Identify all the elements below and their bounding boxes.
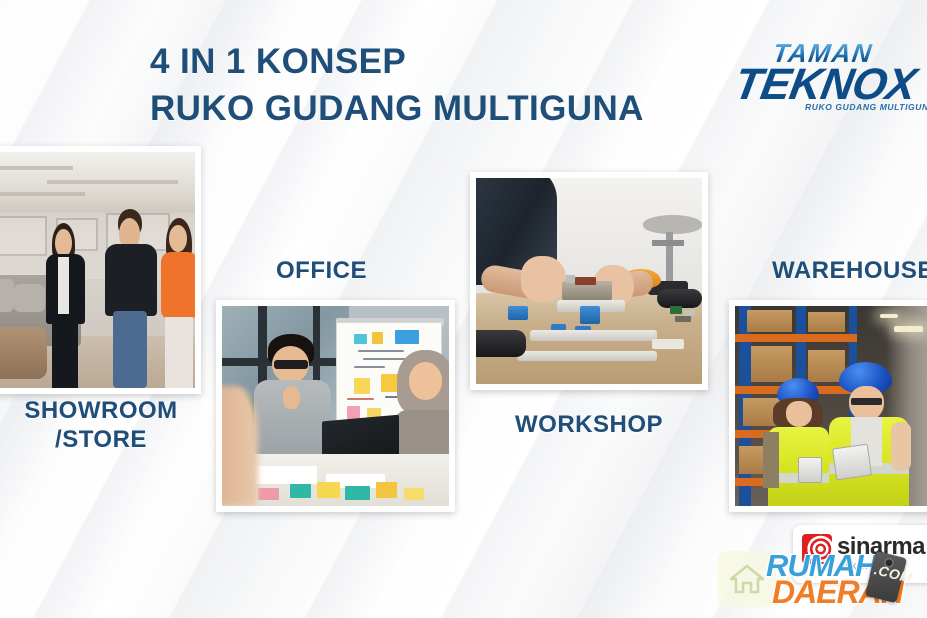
title-line-2: RUKO GUDANG MULTIGUNA bbox=[150, 85, 644, 132]
photo-warehouse bbox=[729, 300, 927, 512]
title-line-1: 4 IN 1 KONSEP bbox=[150, 38, 644, 85]
label-office: OFFICE bbox=[276, 256, 367, 285]
label-showroom-line2: /STORE bbox=[6, 425, 196, 454]
photo-workshop bbox=[470, 172, 708, 390]
warehouse-scene bbox=[735, 306, 927, 506]
logo-tagline: RUKO GUDANG MULTIGUNA bbox=[805, 102, 927, 112]
slide-canvas: 4 IN 1 KONSEP RUKO GUDANG MULTIGUNA TAMA… bbox=[0, 0, 927, 618]
showroom-scene bbox=[0, 152, 195, 388]
page-title: 4 IN 1 KONSEP RUKO GUDANG MULTIGUNA bbox=[150, 38, 644, 132]
label-workshop: WORKSHOP bbox=[515, 410, 663, 439]
photo-showroom bbox=[0, 146, 201, 394]
taman-teknox-logo: TAMAN TEKNOX RUKO GUDANG MULTIGUNA bbox=[727, 36, 927, 120]
photo-office bbox=[216, 300, 455, 512]
workshop-scene bbox=[476, 178, 702, 384]
label-warehouse: WAREHOUSE bbox=[772, 256, 927, 285]
label-showroom-line1: SHOWROOM bbox=[6, 396, 196, 425]
office-scene bbox=[222, 306, 449, 506]
label-showroom: SHOWROOM /STORE bbox=[6, 396, 196, 454]
rumah-daerah-watermark: RUMAH DAERAH .COM bbox=[718, 548, 918, 610]
watermark-com-text: .COM bbox=[873, 561, 914, 586]
